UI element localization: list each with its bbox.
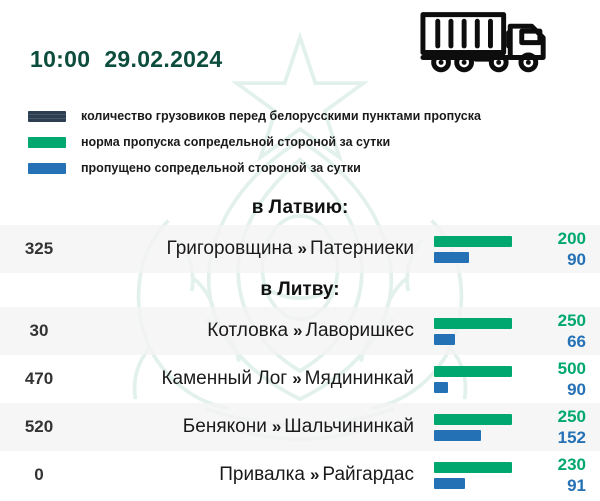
- value-norm: 500: [526, 360, 586, 377]
- legend-label-passed: пропущено сопредельной стороной за сутки: [81, 161, 361, 175]
- value-passed: 90: [526, 381, 586, 398]
- legend-swatch-norm: [28, 137, 66, 148]
- legend: количество грузовиков перед белорусскими…: [0, 95, 600, 191]
- checkpoint-from: Привалка: [219, 464, 305, 485]
- table-row: 325 Григоровщина»Патерниеки 200 90: [0, 225, 600, 273]
- bar-passed: [434, 334, 455, 345]
- queue-count: 470: [0, 369, 78, 389]
- bar-group: [428, 462, 526, 489]
- date-label: 29.02.2024: [104, 46, 222, 72]
- queue-count: 0: [0, 465, 78, 485]
- truck-icon: [418, 8, 558, 74]
- legend-item-queue: количество грузовиков перед белорусскими…: [28, 103, 600, 129]
- section-title-latvia: в Латвию:: [0, 191, 600, 225]
- table-row: 470 Каменный Лог»Мядининкай 500 90: [0, 355, 600, 403]
- value-group: 500 90: [526, 360, 600, 398]
- checkpoint-from: Котловка: [207, 320, 288, 341]
- time-label: 10:00: [30, 46, 90, 72]
- bar-norm: [434, 462, 512, 473]
- value-group: 200 90: [526, 230, 600, 268]
- route: Каменный Лог»Мядининкай: [78, 368, 428, 390]
- queue-count: 325: [0, 239, 78, 259]
- value-norm: 250: [526, 408, 586, 425]
- checkpoint-to: Лаворишкес: [306, 320, 415, 341]
- header: 10:0029.02.2024: [0, 0, 600, 95]
- chevron-right-icon: »: [298, 239, 305, 258]
- checkpoint-from: Бенякони: [183, 416, 267, 437]
- table-row: 30 Котловка»Лаворишкес 250 66: [0, 307, 600, 355]
- value-group: 250 66: [526, 312, 600, 350]
- route: Бенякони»Шальчининкай: [78, 416, 428, 438]
- value-passed: 90: [526, 251, 586, 268]
- bar-norm: [434, 318, 512, 329]
- bar-group: [428, 366, 526, 393]
- bar-passed: [434, 478, 465, 489]
- bar-passed: [434, 382, 448, 393]
- bar-norm: [434, 236, 512, 247]
- checkpoint-to: Райгардас: [322, 464, 414, 485]
- checkpoint-to: Шальчининкай: [284, 416, 414, 437]
- chevron-right-icon: »: [293, 321, 300, 340]
- chevron-right-icon: »: [272, 417, 279, 436]
- value-passed: 66: [526, 333, 586, 350]
- legend-label-queue: количество грузовиков перед белорусскими…: [81, 109, 481, 123]
- bar-group: [428, 414, 526, 441]
- value-group: 230 91: [526, 456, 600, 494]
- checkpoint-from: Григоровщина: [166, 238, 292, 259]
- table-row: 520 Бенякони»Шальчининкай 250 152: [0, 403, 600, 451]
- bar-passed: [434, 252, 469, 263]
- section-title-lithuania: в Литву:: [0, 273, 600, 307]
- value-norm: 200: [526, 230, 586, 247]
- legend-item-norm: норма пропуска сопредельной стороной за …: [28, 129, 600, 155]
- bar-norm: [434, 366, 512, 377]
- legend-item-passed: пропущено сопредельной стороной за сутки: [28, 155, 600, 181]
- route: Котловка»Лаворишкес: [78, 320, 428, 342]
- value-group: 250 152: [526, 408, 600, 446]
- checkpoint-to: Мядининкай: [305, 368, 414, 389]
- value-passed: 91: [526, 477, 586, 494]
- bar-group: [428, 236, 526, 263]
- legend-swatch-passed: [28, 163, 66, 174]
- checkpoint-from: Каменный Лог: [161, 368, 287, 389]
- queue-count: 30: [0, 321, 78, 341]
- legend-label-norm: норма пропуска сопредельной стороной за …: [81, 135, 390, 149]
- checkpoint-to: Патерниеки: [310, 238, 414, 259]
- value-passed: 152: [526, 429, 586, 446]
- bar-norm: [434, 414, 512, 425]
- queue-count: 520: [0, 417, 78, 437]
- timestamp: 10:0029.02.2024: [30, 46, 222, 73]
- chevron-right-icon: »: [310, 465, 317, 484]
- route: Привалка»Райгардас: [78, 464, 428, 486]
- value-norm: 230: [526, 456, 586, 473]
- value-norm: 250: [526, 312, 586, 329]
- table-row: 0 Привалка»Райгардас 230 91: [0, 451, 600, 499]
- truck-queue-infographic: 10:0029.02.2024: [0, 0, 600, 501]
- route: Григоровщина»Патерниеки: [78, 238, 428, 260]
- bar-group: [428, 318, 526, 345]
- chevron-right-icon: »: [292, 369, 299, 388]
- legend-swatch-queue: [28, 111, 66, 122]
- bar-passed: [434, 430, 481, 441]
